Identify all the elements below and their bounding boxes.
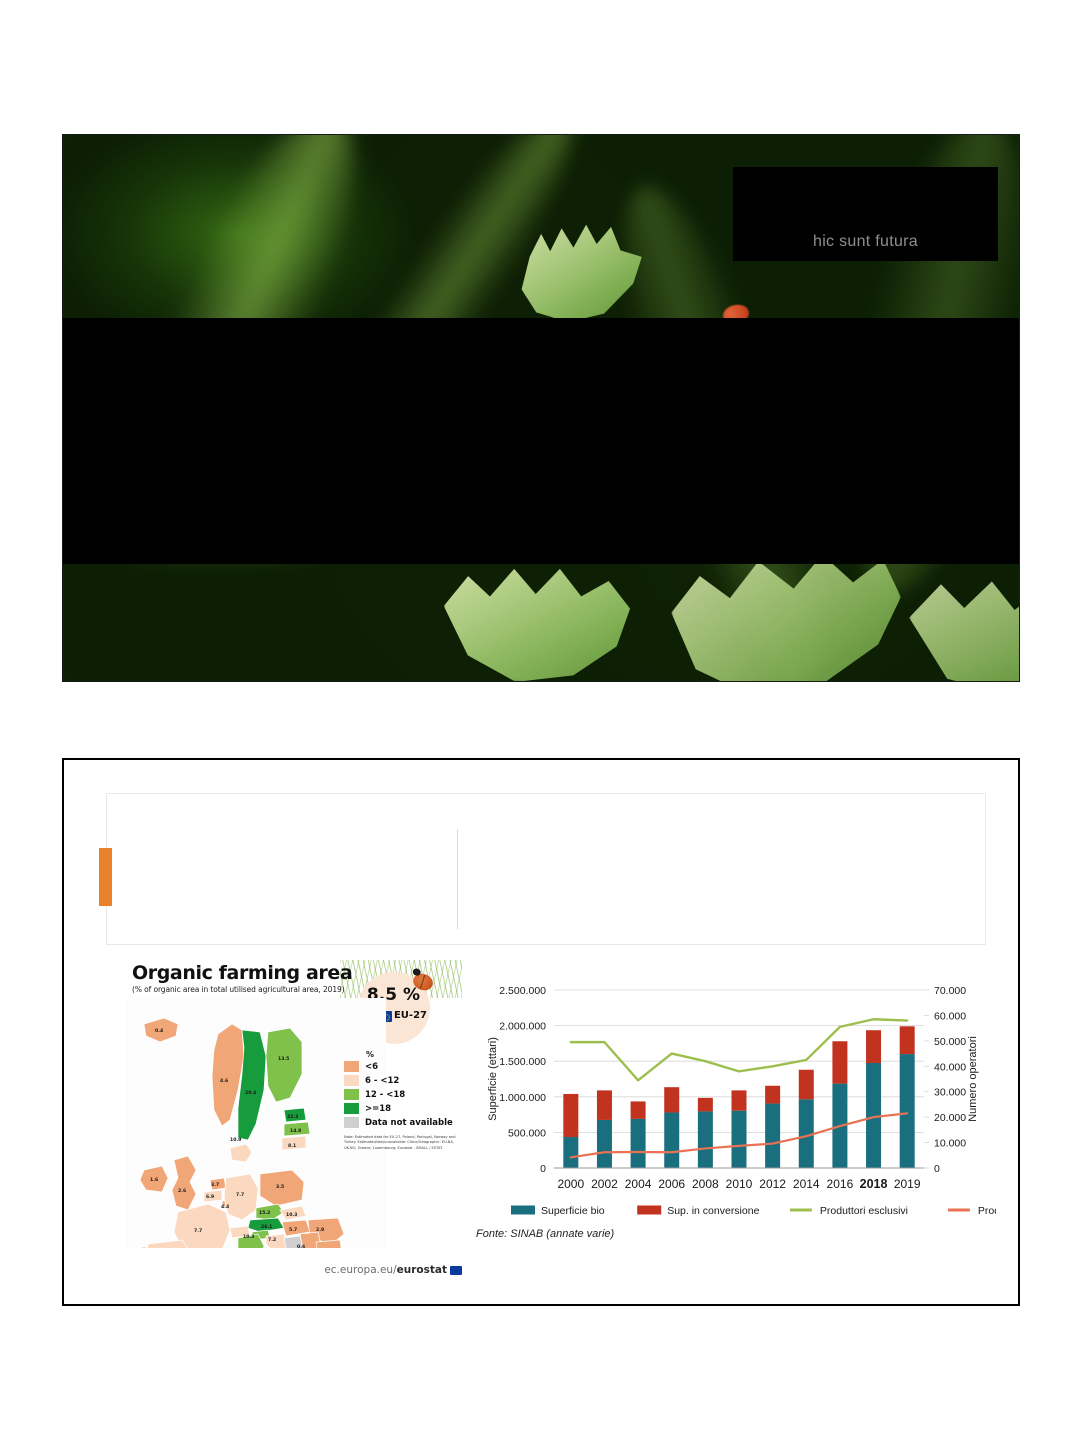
svg-text:5.7: 5.7 <box>289 1227 297 1233</box>
svg-text:Superficie (ettari): Superficie (ettari) <box>487 1037 499 1121</box>
svg-text:4.6: 4.6 <box>220 1078 228 1084</box>
eu-region-label: EU-27 <box>394 1010 427 1021</box>
svg-text:40.000: 40.000 <box>934 1061 966 1073</box>
legend-label: Data not available <box>365 1118 453 1128</box>
svg-text:Produttori esclusivi: Produttori esclusivi <box>820 1205 908 1217</box>
legend-item: Data not available <box>344 1117 464 1128</box>
legend-swatch <box>344 1117 359 1128</box>
legend-label: 6 - <12 <box>365 1076 399 1086</box>
eurostat-logo: ec.europa.eu/eurostat <box>324 1264 462 1276</box>
legend-swatch <box>344 1075 359 1086</box>
svg-text:3.5: 3.5 <box>276 1184 284 1190</box>
svg-text:2018: 2018 <box>860 1177 888 1191</box>
infographic-subtitle: (% of organic area in total utilised agr… <box>132 985 345 994</box>
legend-swatch <box>344 1089 359 1100</box>
legend-label: 12 - <18 <box>365 1090 405 1100</box>
svg-text:500.000: 500.000 <box>508 1127 546 1139</box>
svg-text:1.6: 1.6 <box>150 1177 158 1183</box>
svg-text:30.000: 30.000 <box>934 1087 966 1099</box>
svg-text:10.3: 10.3 <box>243 1234 254 1240</box>
svg-text:2004: 2004 <box>625 1177 652 1191</box>
svg-text:4.4: 4.4 <box>221 1204 229 1210</box>
slide-2-content: Organic farming area (% of organic area … <box>62 758 1020 1306</box>
svg-text:6.9: 6.9 <box>206 1194 214 1200</box>
legend-item: 12 - <18 <box>344 1089 464 1100</box>
svg-text:2.500.000: 2.500.000 <box>499 985 546 997</box>
svg-text:2.000.000: 2.000.000 <box>499 1021 546 1033</box>
slide-1-photo: hic sunt futura <box>62 134 1020 682</box>
svg-text:0.6: 0.6 <box>297 1244 305 1248</box>
content-placeholder-box <box>106 793 986 945</box>
accent-bar <box>99 848 112 906</box>
svg-text:10.9: 10.9 <box>230 1137 241 1143</box>
svg-text:2000: 2000 <box>557 1177 584 1191</box>
svg-text:2016: 2016 <box>827 1177 854 1191</box>
svg-text:10.3: 10.3 <box>286 1212 297 1218</box>
map-footnote: Note: Estimated data for EU-27, Poland, … <box>344 1135 456 1151</box>
legend-swatch <box>344 1061 359 1072</box>
svg-text:2014: 2014 <box>793 1177 820 1191</box>
svg-text:20.4: 20.4 <box>245 1090 256 1096</box>
svg-text:2002: 2002 <box>591 1177 618 1191</box>
legend-swatch <box>344 1103 359 1114</box>
eu-flag-icon <box>450 1266 462 1275</box>
svg-text:0: 0 <box>540 1163 546 1175</box>
svg-text:13.5: 13.5 <box>278 1056 289 1062</box>
svg-text:60.000: 60.000 <box>934 1010 966 1022</box>
legend-item: 6 - <12 <box>344 1075 464 1086</box>
map-legend: % <6 6 - <12 12 - <18 >=18 Data not avai… <box>344 1050 464 1151</box>
svg-text:2019: 2019 <box>894 1177 921 1191</box>
svg-text:14.8: 14.8 <box>290 1128 301 1134</box>
svg-text:Numero operatori: Numero operatori <box>967 1036 979 1122</box>
eurostat-url: ec.europa.eu/ <box>324 1264 396 1276</box>
svg-text:8.1: 8.1 <box>288 1143 296 1149</box>
legend-item: >=18 <box>344 1103 464 1114</box>
svg-text:26.1: 26.1 <box>261 1224 272 1230</box>
legend-item: <6 <box>344 1061 464 1072</box>
redaction-block-body <box>63 318 1020 564</box>
svg-text:2.9: 2.9 <box>316 1227 324 1233</box>
svg-text:7.2: 7.2 <box>268 1237 276 1243</box>
svg-text:1.500.000: 1.500.000 <box>499 1056 546 1068</box>
legend-label: >=18 <box>365 1104 391 1114</box>
europe-choropleth-map: .c1{fill:#f0a676;} /* <6 */ .c2{fill:#fb… <box>126 998 356 1246</box>
svg-text:0: 0 <box>934 1163 940 1175</box>
svg-text:70.000: 70.000 <box>934 985 966 997</box>
svg-text:15.2: 15.2 <box>259 1210 270 1216</box>
svg-text:7.7: 7.7 <box>194 1228 202 1234</box>
column-divider <box>457 829 458 929</box>
svg-text:50.000: 50.000 <box>934 1036 966 1048</box>
eurostat-infographic: Organic farming area (% of organic area … <box>126 958 466 1278</box>
svg-text:2006: 2006 <box>658 1177 685 1191</box>
svg-text:Prod./Trasf., Trasf. e Import.: Prod./Trasf., Trasf. e Import. <box>978 1205 996 1217</box>
svg-text:1.000.000: 1.000.000 <box>499 1092 546 1104</box>
svg-text:Sup. in conversione: Sup. in conversione <box>667 1205 759 1217</box>
organic-farming-combo-chart: 0500.0001.000.0001.500.0002.000.0002.500… <box>476 978 996 1268</box>
chart-svg: 0500.0001.000.0001.500.0002.000.0002.500… <box>476 978 996 1228</box>
svg-text:2010: 2010 <box>726 1177 753 1191</box>
svg-text:20.000: 20.000 <box>934 1112 966 1124</box>
svg-text:22.3: 22.3 <box>287 1114 298 1120</box>
svg-text:7.7: 7.7 <box>236 1192 244 1198</box>
legend-label: <6 <box>365 1062 378 1072</box>
svg-text:2.6: 2.6 <box>178 1188 186 1194</box>
title-placeholder-text: hic sunt futura <box>733 167 998 261</box>
svg-text:10.000: 10.000 <box>934 1138 966 1150</box>
chart-source-note: Fonte: SINAB (annate varie) <box>476 1228 614 1240</box>
svg-text:0.4: 0.4 <box>155 1028 163 1034</box>
svg-text:2012: 2012 <box>759 1177 786 1191</box>
svg-text:3.7: 3.7 <box>211 1182 219 1188</box>
svg-text:Superficie bio: Superficie bio <box>541 1205 605 1217</box>
infographic-title: Organic farming area <box>132 962 352 984</box>
svg-text:2008: 2008 <box>692 1177 719 1191</box>
eurostat-wordmark: eurostat <box>397 1264 447 1276</box>
legend-header: % <box>366 1050 464 1059</box>
